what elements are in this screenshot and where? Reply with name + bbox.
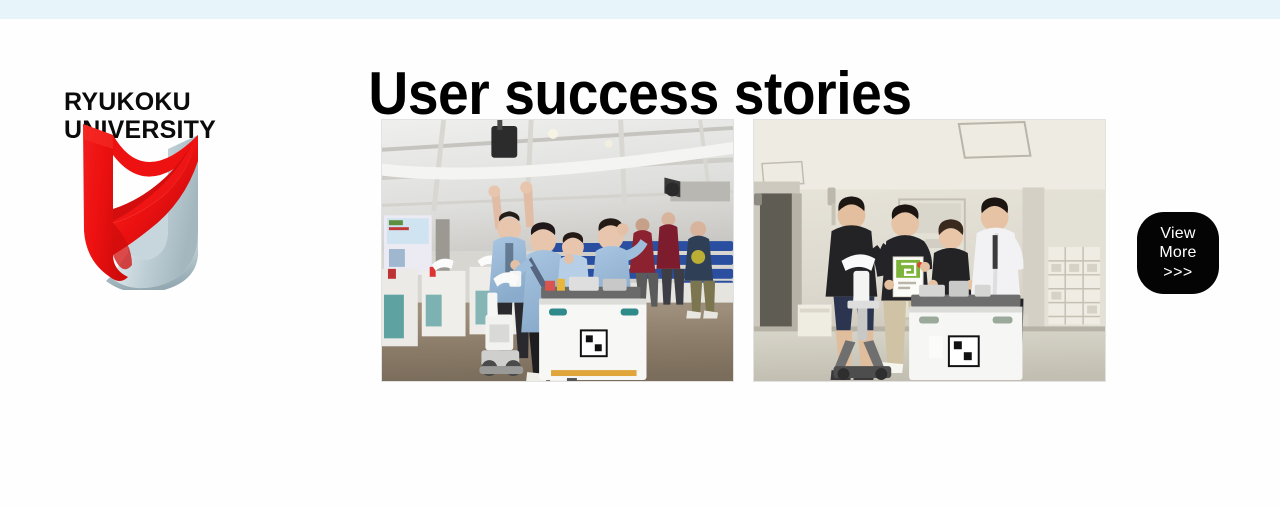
- chevron-right-triple-icon: >>>: [1163, 263, 1193, 283]
- story-photo[interactable]: [753, 119, 1106, 382]
- top-accent-band: [0, 0, 1280, 19]
- ryukoku-university-logo-icon: [72, 105, 217, 290]
- view-more-line-2: More: [1159, 243, 1196, 263]
- view-more-line-1: View: [1160, 224, 1195, 244]
- story-photo[interactable]: [381, 119, 734, 382]
- view-more-button[interactable]: View More >>>: [1137, 212, 1219, 294]
